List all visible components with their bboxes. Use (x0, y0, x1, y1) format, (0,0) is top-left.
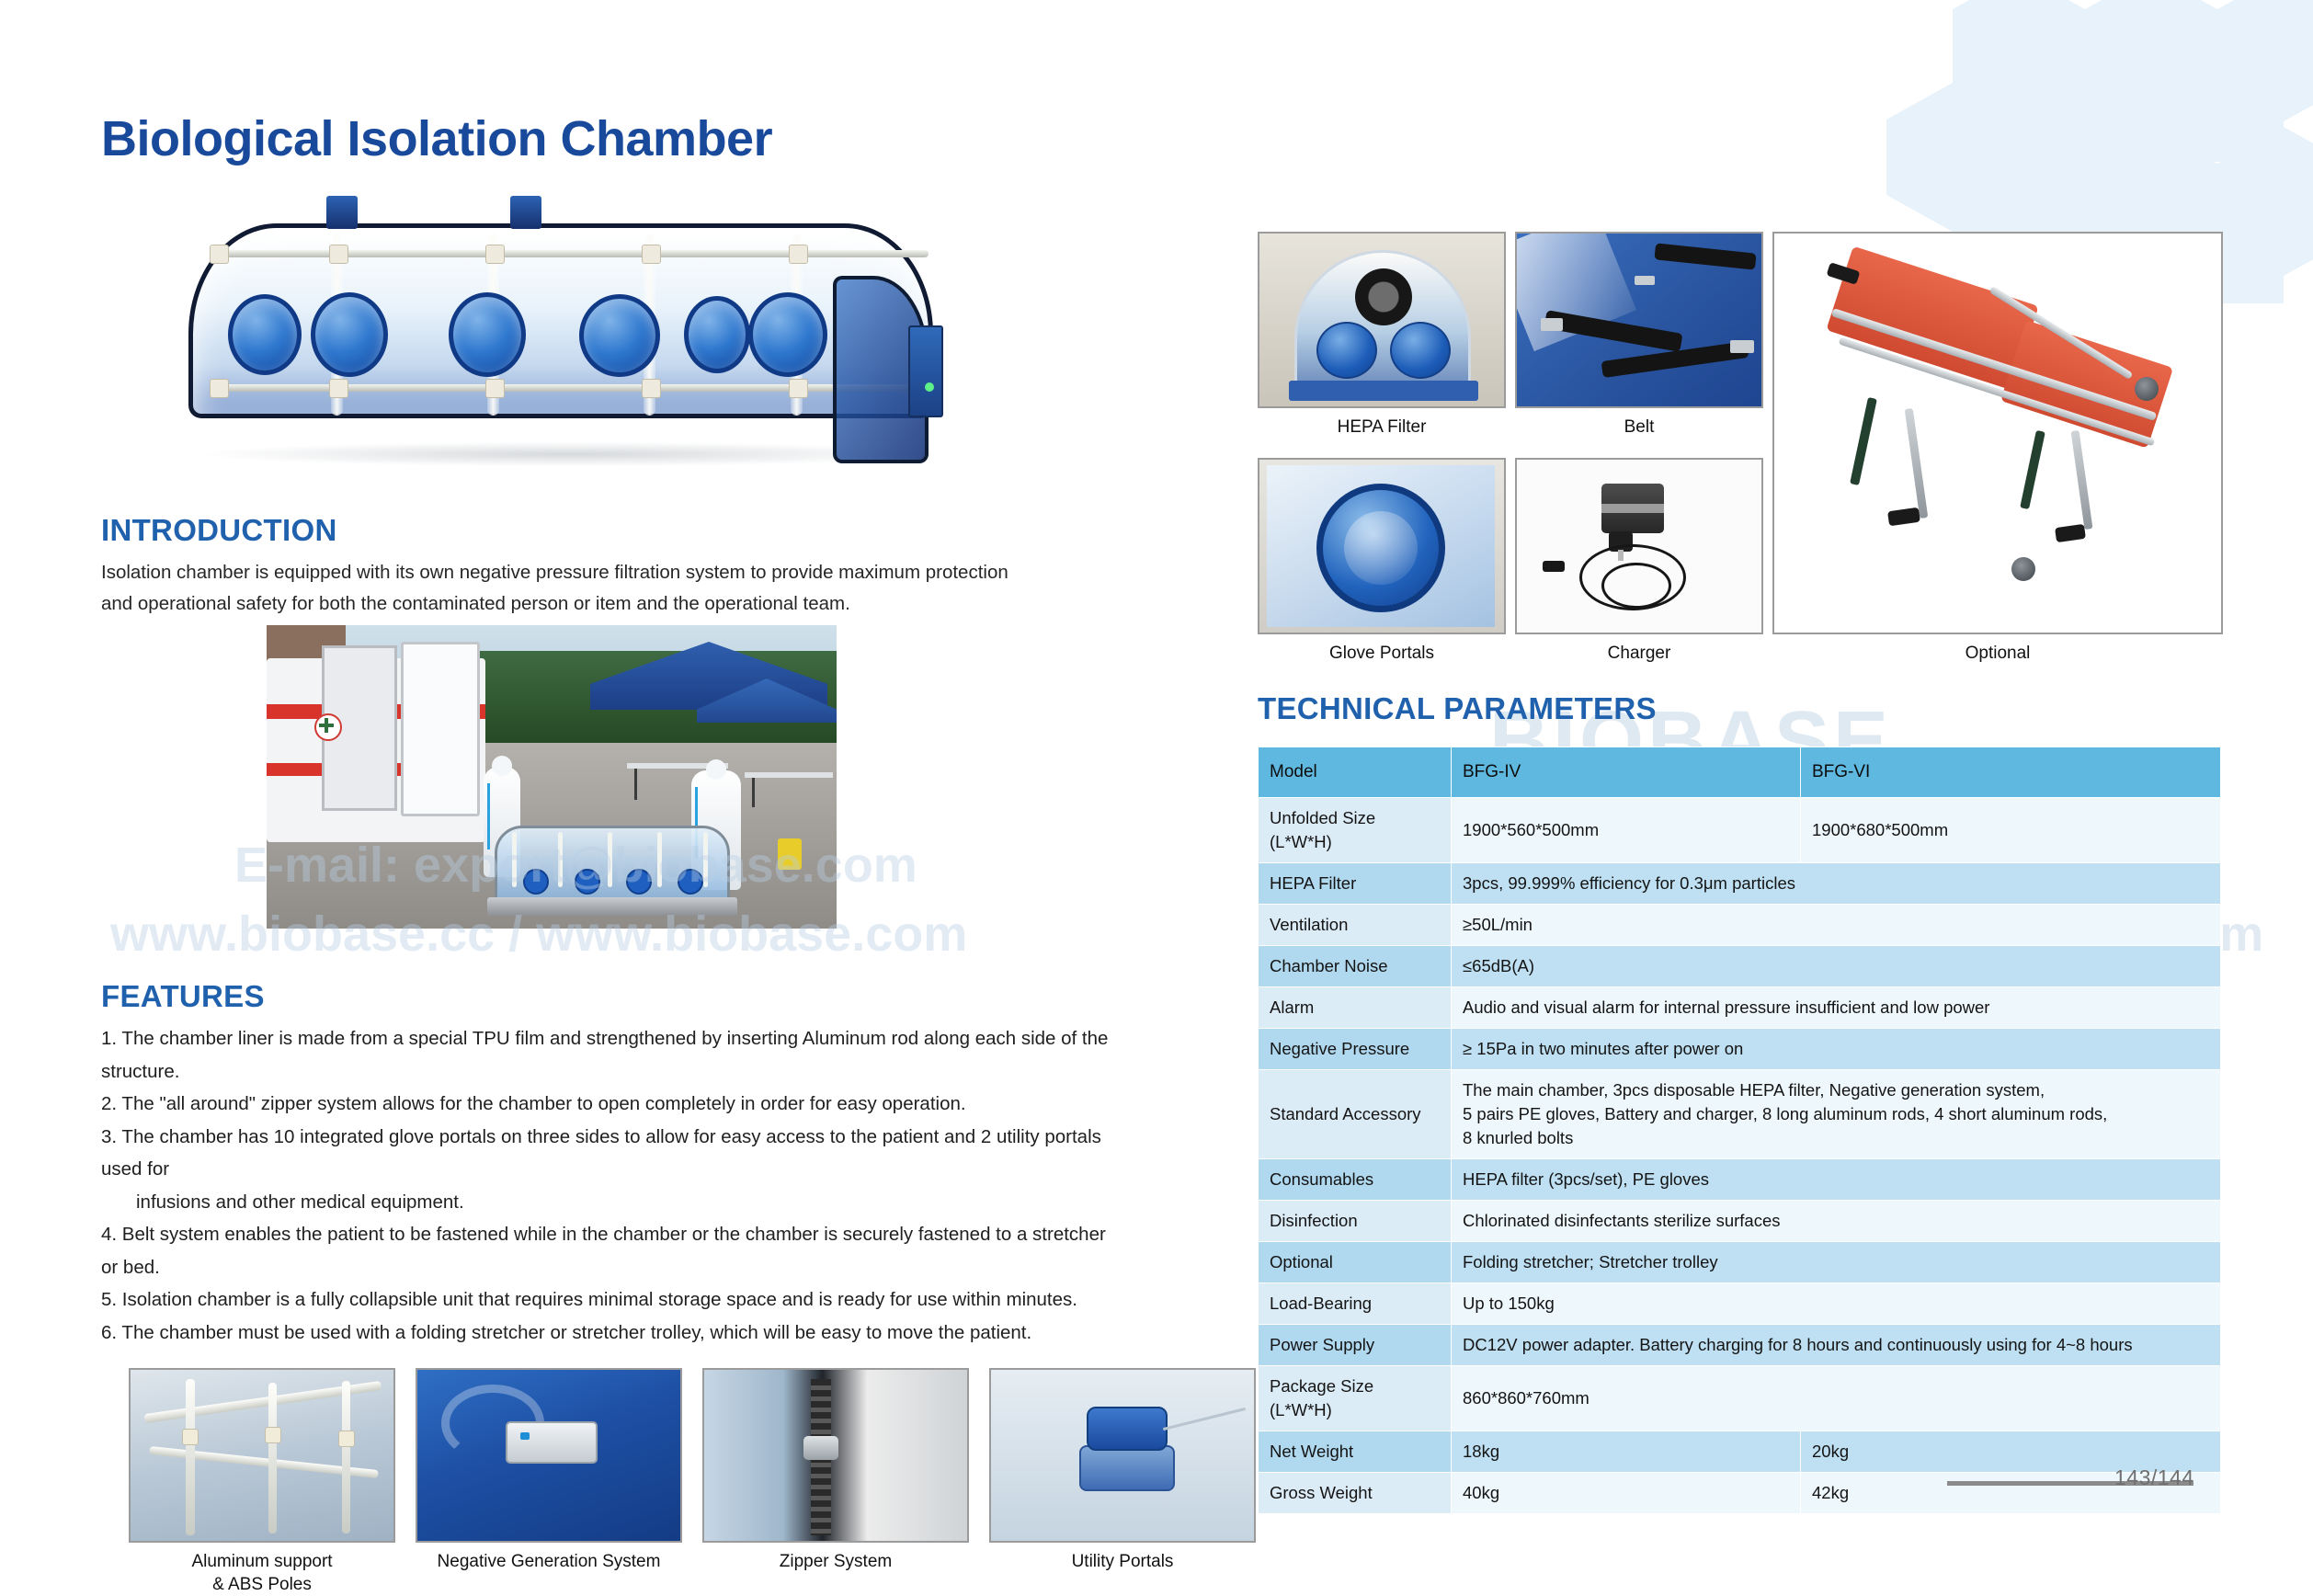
optional-stretcher-trolley-photo (1772, 232, 2223, 634)
page-title: Biological Isolation Chamber (101, 110, 772, 167)
photo-caption: Belt (1624, 417, 1655, 437)
table-row: Standard AccessoryThe main chamber, 3pcs… (1259, 1070, 2221, 1159)
trolley-wheel (2135, 377, 2159, 401)
table-cell-value-a: 1900*560*500mm (1452, 798, 1801, 863)
table-row-label: Disinfection (1259, 1201, 1452, 1242)
table-row: OptionalFolding stretcher; Stretcher tro… (1259, 1242, 2221, 1283)
photo-caption: Negative Generation System (438, 1552, 661, 1571)
power-led-icon (925, 382, 934, 392)
table-row-label: Chamber Noise (1259, 946, 1452, 987)
aluminum-support-photo (129, 1368, 395, 1543)
table-row: Package Size (L*W*H)860*860*760mm (1259, 1366, 2221, 1431)
table-row-label: Net Weight (1259, 1431, 1452, 1473)
features-heading: FEATURES (101, 979, 265, 1014)
introduction-heading: INTRODUCTION (101, 513, 337, 548)
table-row: Power SupplyDC12V power adapter. Battery… (1259, 1325, 2221, 1366)
table-row-label: Standard Accessory (1259, 1070, 1452, 1159)
table-cell-value-a: 3pcs, 99.999% efficiency for 0.3μm parti… (1452, 863, 2221, 905)
table-row: DisinfectionChlorinated disinfectants st… (1259, 1201, 2221, 1242)
field-deployment-photo (267, 625, 837, 929)
table-cell-value-a: DC12V power adapter. Battery charging fo… (1452, 1325, 2221, 1366)
table-row-label: Negative Pressure (1259, 1029, 1452, 1070)
zipper-system-photo (702, 1368, 969, 1543)
photo-caption-line2: & ABS Poles (212, 1575, 312, 1594)
feature-item: 2. The "all around" zipper system allows… (101, 1088, 1112, 1121)
glove-portals-photo (1258, 458, 1506, 634)
table-row-label: Package Size (L*W*H) (1259, 1366, 1452, 1431)
feature-item-continuation: infusions and other medical equipment. (101, 1186, 1112, 1219)
table-cell-value-a: 40kg (1452, 1473, 1801, 1514)
table-header-row: ModelBFG-IVBFG-VI (1259, 747, 2221, 798)
charger-photo (1515, 458, 1763, 634)
table-row-label: HEPA Filter (1259, 863, 1452, 905)
photo-caption: Optional (1965, 644, 2031, 663)
chamber-body (188, 223, 933, 418)
table-row-label: Load-Bearing (1259, 1283, 1452, 1325)
table-cell-value-a: Audio and visual alarm for internal pres… (1452, 987, 2221, 1029)
table-row-label: Power Supply (1259, 1325, 1452, 1366)
control-panel (908, 325, 943, 417)
table-header-cell: Model (1259, 747, 1452, 798)
table-header-cell: BFG-VI (1801, 747, 2221, 798)
feature-item: 6. The chamber must be used with a foldi… (101, 1317, 1112, 1350)
hepa-fan-icon (1355, 268, 1412, 325)
technical-parameters-heading: TECHNICAL PARAMETERS (1258, 691, 1657, 726)
table-row-label: Alarm (1259, 987, 1452, 1029)
table-row: ConsumablesHEPA filter (3pcs/set), PE gl… (1259, 1159, 2221, 1201)
photo-caption: Aluminum support (191, 1552, 332, 1571)
table-row-label: Gross Weight (1259, 1473, 1452, 1514)
feature-item: 1. The chamber liner is made from a spec… (101, 1022, 1112, 1088)
table-cell-value-a: Chlorinated disinfectants sterilize surf… (1452, 1201, 2221, 1242)
feature-item: 3. The chamber has 10 integrated glove p… (101, 1121, 1112, 1186)
features-list: 1. The chamber liner is made from a spec… (101, 1022, 1112, 1349)
table-cell-value-a: Up to 150kg (1452, 1283, 2221, 1325)
hepa-filter-photo (1258, 232, 1506, 408)
table-row: Ventilation≥50L/min (1259, 905, 2221, 946)
table-row-label: Ventilation (1259, 905, 1452, 946)
table-row: Load-BearingUp to 150kg (1259, 1283, 2221, 1325)
feature-item: 5. Isolation chamber is a fully collapsi… (101, 1283, 1112, 1317)
hero-isolation-chamber-photo (152, 179, 1020, 473)
table-cell-value-a: 18kg (1452, 1431, 1801, 1473)
table-row: Unfolded Size (L*W*H)1900*560*500mm1900*… (1259, 798, 2221, 863)
technical-parameters-table: ModelBFG-IVBFG-VIUnfolded Size (L*W*H)19… (1258, 747, 2221, 1514)
table-cell-value-b: 1900*680*500mm (1801, 798, 2221, 863)
photo-caption: Charger (1608, 644, 1671, 663)
utility-portals-photo (989, 1368, 1256, 1543)
table-cell-value-a: HEPA filter (3pcs/set), PE gloves (1452, 1159, 2221, 1201)
table-row: Net Weight18kg20kg (1259, 1431, 2221, 1473)
table-cell-value-a: The main chamber, 3pcs disposable HEPA f… (1452, 1070, 2221, 1159)
table-row-label: Consumables (1259, 1159, 1452, 1201)
photo-caption: HEPA Filter (1338, 417, 1427, 437)
table-row: Negative Pressure≥ 15Pa in two minutes a… (1259, 1029, 2221, 1070)
table-row: Gross Weight40kg42kg (1259, 1473, 2221, 1514)
trolley-wheel (2011, 557, 2035, 581)
hero-shadow (207, 442, 933, 466)
photo-caption: Zipper System (780, 1552, 892, 1571)
photo-caption: Utility Portals (1072, 1552, 1174, 1571)
table-cell-value-a: ≤65dB(A) (1452, 946, 2221, 987)
page-number: 143/144 (2114, 1465, 2194, 1490)
table-row-label: Optional (1259, 1242, 1452, 1283)
table-cell-value-a: Folding stretcher; Stretcher trolley (1452, 1242, 2221, 1283)
table-row: AlarmAudio and visual alarm for internal… (1259, 987, 2221, 1029)
negative-generation-system-photo (416, 1368, 682, 1543)
belt-photo (1515, 232, 1763, 408)
table-cell-value-a: 860*860*760mm (1452, 1366, 2221, 1431)
introduction-body: Isolation chamber is equipped with its o… (101, 557, 1020, 620)
photo-caption: Glove Portals (1329, 644, 1434, 663)
table-header-cell: BFG-IV (1452, 747, 1801, 798)
table-row: Chamber Noise≤65dB(A) (1259, 946, 2221, 987)
feature-item: 4. Belt system enables the patient to be… (101, 1218, 1112, 1283)
table-row-label: Unfolded Size (L*W*H) (1259, 798, 1452, 863)
table-row: HEPA Filter3pcs, 99.999% efficiency for … (1259, 863, 2221, 905)
table-cell-value-a: ≥ 15Pa in two minutes after power on (1452, 1029, 2221, 1070)
table-cell-value-a: ≥50L/min (1452, 905, 2221, 946)
